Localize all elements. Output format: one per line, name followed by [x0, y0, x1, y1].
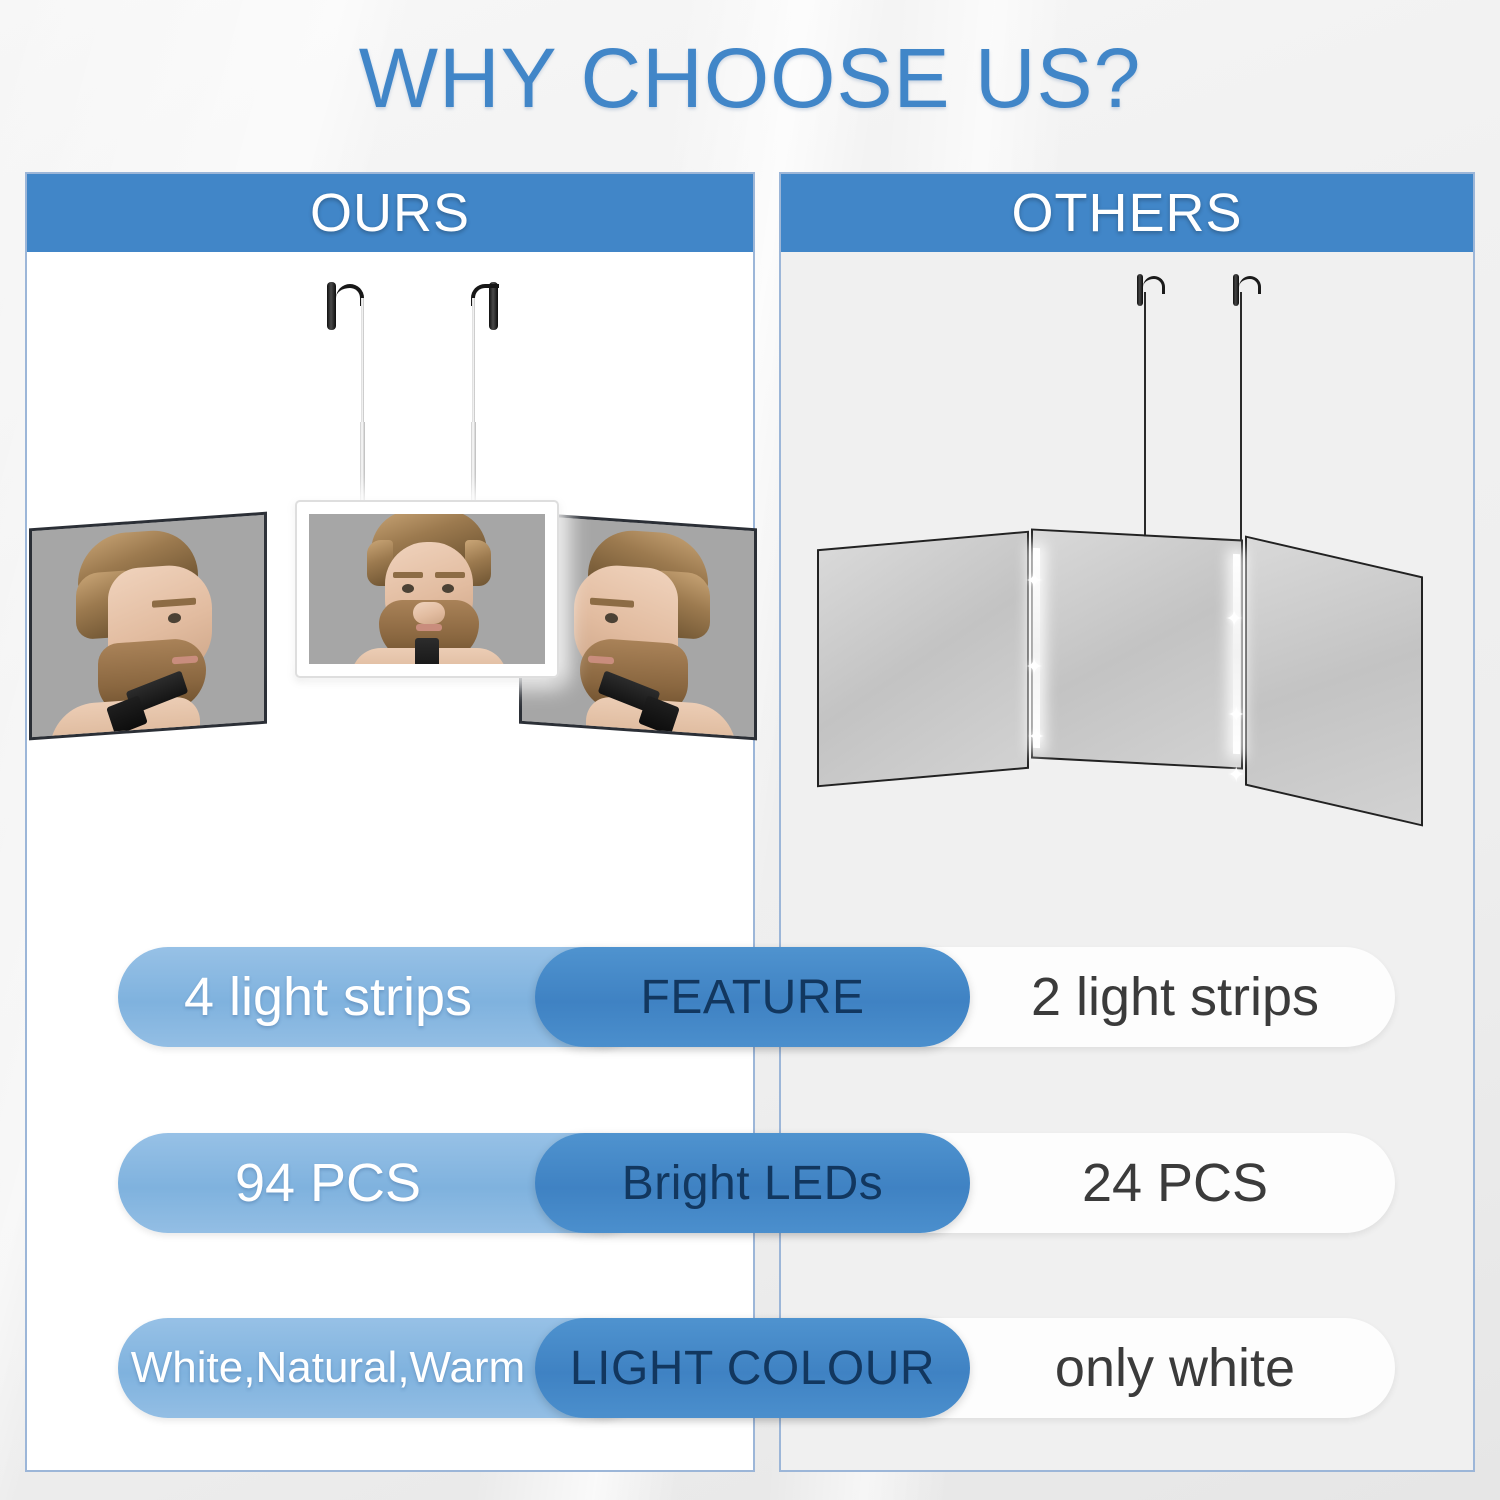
- others-hook-wire-right: [1240, 292, 1242, 554]
- others-mirror-right: [1245, 535, 1423, 826]
- row-feature-label: Bright LEDs: [535, 1133, 970, 1233]
- others-mirror-center: [1031, 528, 1243, 769]
- sparkle-icon: ✦: [1227, 704, 1245, 726]
- row-value-others: 2 light strips: [975, 947, 1375, 1047]
- infographic-root: WHY CHOOSE US? OURS: [0, 0, 1500, 1500]
- sparkle-icon: ✦: [1227, 764, 1245, 786]
- row-value-ours: 94 PCS: [118, 1133, 538, 1233]
- column-header-others: OTHERS: [781, 174, 1473, 252]
- product-image-ours: [27, 252, 757, 1022]
- sparkle-icon: ✦: [1225, 608, 1243, 630]
- hook-arc-right: [471, 284, 499, 306]
- page-title: WHY CHOOSE US?: [0, 36, 1500, 120]
- row-feature-label: LIGHT COLOUR: [535, 1318, 970, 1418]
- mirror-center-glass: [309, 514, 545, 664]
- row-value-ours: 4 light strips: [118, 947, 538, 1047]
- others-mirror-left: [817, 531, 1029, 788]
- others-hook-arc-left: [1143, 276, 1165, 294]
- hook-arc-left: [336, 284, 364, 306]
- row-value-others: 24 PCS: [975, 1133, 1375, 1233]
- comparison-row: 94 PCS Bright LEDs 24 PCS: [0, 1133, 1500, 1233]
- others-hook-wire-left: [1144, 292, 1146, 538]
- hook-rod-right-upper: [472, 298, 475, 426]
- hook-tip-left: [327, 282, 336, 330]
- hook-rod-left-upper: [361, 298, 364, 426]
- row-value-ours: White,Natural,Warm: [118, 1318, 538, 1418]
- comparison-column-others: OTHERS ✦ ✦ ✦ ✦ ✦ ✦: [779, 172, 1475, 1472]
- sparkle-icon: ✦: [1027, 726, 1045, 748]
- column-header-ours: OURS: [27, 174, 753, 252]
- comparison-column-ours: OURS: [25, 172, 755, 1472]
- sparkle-icon: ✦: [1025, 656, 1043, 678]
- comparison-row: 4 light strips FEATURE 2 light strips: [0, 947, 1500, 1047]
- mirror-center-illuminated: [295, 500, 559, 678]
- product-image-others: ✦ ✦ ✦ ✦ ✦ ✦: [781, 252, 1477, 1022]
- comparison-row: White,Natural,Warm LIGHT COLOUR only whi…: [0, 1318, 1500, 1418]
- sparkle-icon: ✦: [1025, 570, 1043, 592]
- others-hook-arc-right: [1239, 276, 1261, 294]
- row-value-others: only white: [975, 1318, 1375, 1418]
- mirror-wing-left: [29, 512, 267, 741]
- row-feature-label: FEATURE: [535, 947, 970, 1047]
